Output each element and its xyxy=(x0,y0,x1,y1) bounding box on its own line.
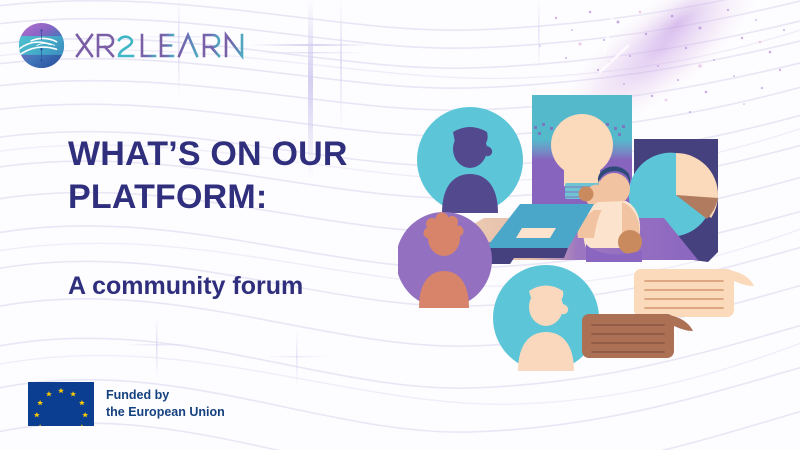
avatar-circle-top xyxy=(417,107,523,213)
xr2learn-circle-logo xyxy=(18,22,65,69)
community-forum-illustration xyxy=(398,82,798,382)
eu-funding-text: Funded by the European Union xyxy=(106,387,225,421)
eu-funding-badge: Funded by the European Union xyxy=(28,382,225,426)
european-union-flag xyxy=(28,382,94,426)
speech-bubble-brown xyxy=(582,314,693,358)
eu-funding-line-1: Funded by xyxy=(106,387,225,404)
page-subtitle: A community forum xyxy=(68,272,448,301)
brand-wordmark xyxy=(74,29,250,63)
slide-canvas: WHAT’S ON OUR PLATFORM: A community foru… xyxy=(0,0,800,450)
eu-funding-line-2: the European Union xyxy=(106,404,225,421)
headline-block: WHAT’S ON OUR PLATFORM: xyxy=(68,133,428,218)
page-title: WHAT’S ON OUR PLATFORM: xyxy=(68,133,428,218)
brand-logo[interactable] xyxy=(18,22,250,69)
speech-bubble-peach xyxy=(634,269,754,317)
